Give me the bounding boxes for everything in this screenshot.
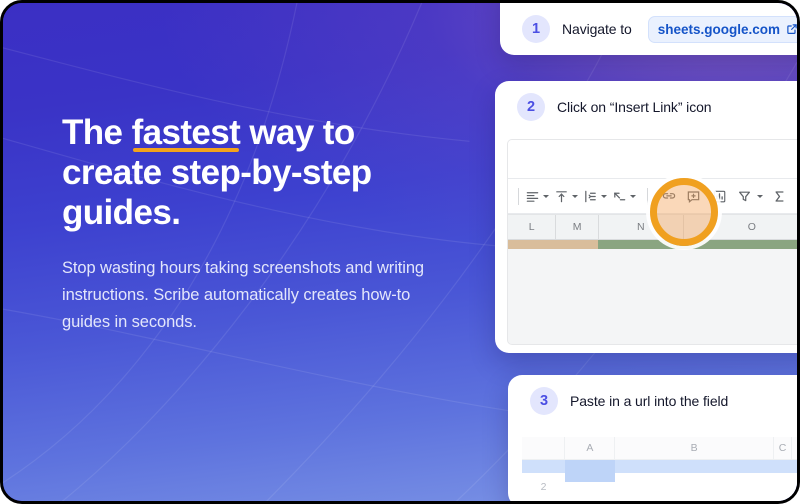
- functions-sigma-icon[interactable]: [772, 189, 787, 204]
- step-card-1: 1 Navigate to sheets.google.com: [500, 0, 800, 55]
- step-card-3: 3 Paste in a url into the field A B C D …: [508, 375, 800, 504]
- headline-part-1: The: [62, 113, 132, 152]
- step-3-label: Paste in a url into the field: [570, 393, 728, 409]
- step-3-badge: 3: [530, 387, 558, 415]
- step-2-header: 2 Click on “Insert Link” icon: [495, 81, 800, 133]
- step-1-url-text: sheets.google.com: [658, 22, 780, 37]
- column-header-B[interactable]: B: [615, 437, 773, 459]
- text-rotation-icon[interactable]: [612, 189, 627, 204]
- chevron-down-icon[interactable]: [601, 195, 607, 198]
- toolbar-divider: [518, 188, 519, 205]
- step-1-header: 1 Navigate to sheets.google.com: [500, 3, 800, 55]
- hero-copy: The fastest way to create step-by-step g…: [62, 113, 462, 336]
- page-title: The fastest way to create step-by-step g…: [62, 113, 462, 233]
- spreadsheet-data-bars: [508, 240, 800, 249]
- row-header-2[interactable]: 2: [522, 481, 565, 493]
- corner-select-all[interactable]: [522, 437, 565, 459]
- chevron-down-icon[interactable]: [757, 195, 763, 198]
- step-card-2: 2 Click on “Insert Link” icon: [495, 81, 800, 353]
- step-3-header: 3 Paste in a url into the field: [508, 375, 800, 427]
- column-header-L[interactable]: L: [508, 215, 556, 239]
- chevron-down-icon[interactable]: [572, 195, 578, 198]
- data-bar-tan: [508, 240, 598, 249]
- vertical-align-icon[interactable]: [554, 189, 569, 204]
- step-2-label: Click on “Insert Link” icon: [557, 99, 711, 115]
- column-header-M[interactable]: M: [556, 215, 598, 239]
- spreadsheet-screenshot-step-3: A B C D 2 Text: [522, 437, 800, 504]
- headline-highlight: fastest: [132, 113, 241, 153]
- chevron-down-icon[interactable]: [630, 195, 636, 198]
- step-1-url-pill[interactable]: sheets.google.com: [648, 16, 800, 43]
- external-link-icon: [786, 23, 798, 35]
- hero-subcopy: Stop wasting hours taking screenshots an…: [62, 255, 452, 336]
- column-header-A[interactable]: A: [565, 437, 615, 459]
- spreadsheet-grid-body[interactable]: [508, 249, 800, 345]
- create-filter-icon[interactable]: [737, 189, 752, 204]
- step-1-badge: 1: [522, 15, 550, 43]
- step-2-highlight-ring: [650, 178, 718, 246]
- column-header-C[interactable]: C: [774, 437, 793, 459]
- spreadsheet-screenshot-step-2: L M N O: [507, 139, 800, 345]
- app-window: The fastest way to create step-by-step g…: [0, 0, 800, 504]
- step-1-label: Navigate to: [562, 21, 632, 37]
- horizontal-align-icon[interactable]: [525, 189, 540, 204]
- chevron-down-icon[interactable]: [543, 195, 549, 198]
- step-2-badge: 2: [517, 93, 545, 121]
- toolbar-divider: [647, 188, 648, 205]
- selected-row-highlight: [522, 460, 800, 473]
- column-header-D[interactable]: D: [792, 437, 800, 459]
- popup-notch: [613, 497, 633, 504]
- headline-highlight-text: fastest: [132, 113, 241, 152]
- sheet-top-blank-area: [508, 140, 800, 179]
- headline-underline: [133, 148, 240, 152]
- spreadsheet-column-headers: A B C D: [522, 437, 800, 460]
- text-wrapping-icon[interactable]: [583, 189, 598, 204]
